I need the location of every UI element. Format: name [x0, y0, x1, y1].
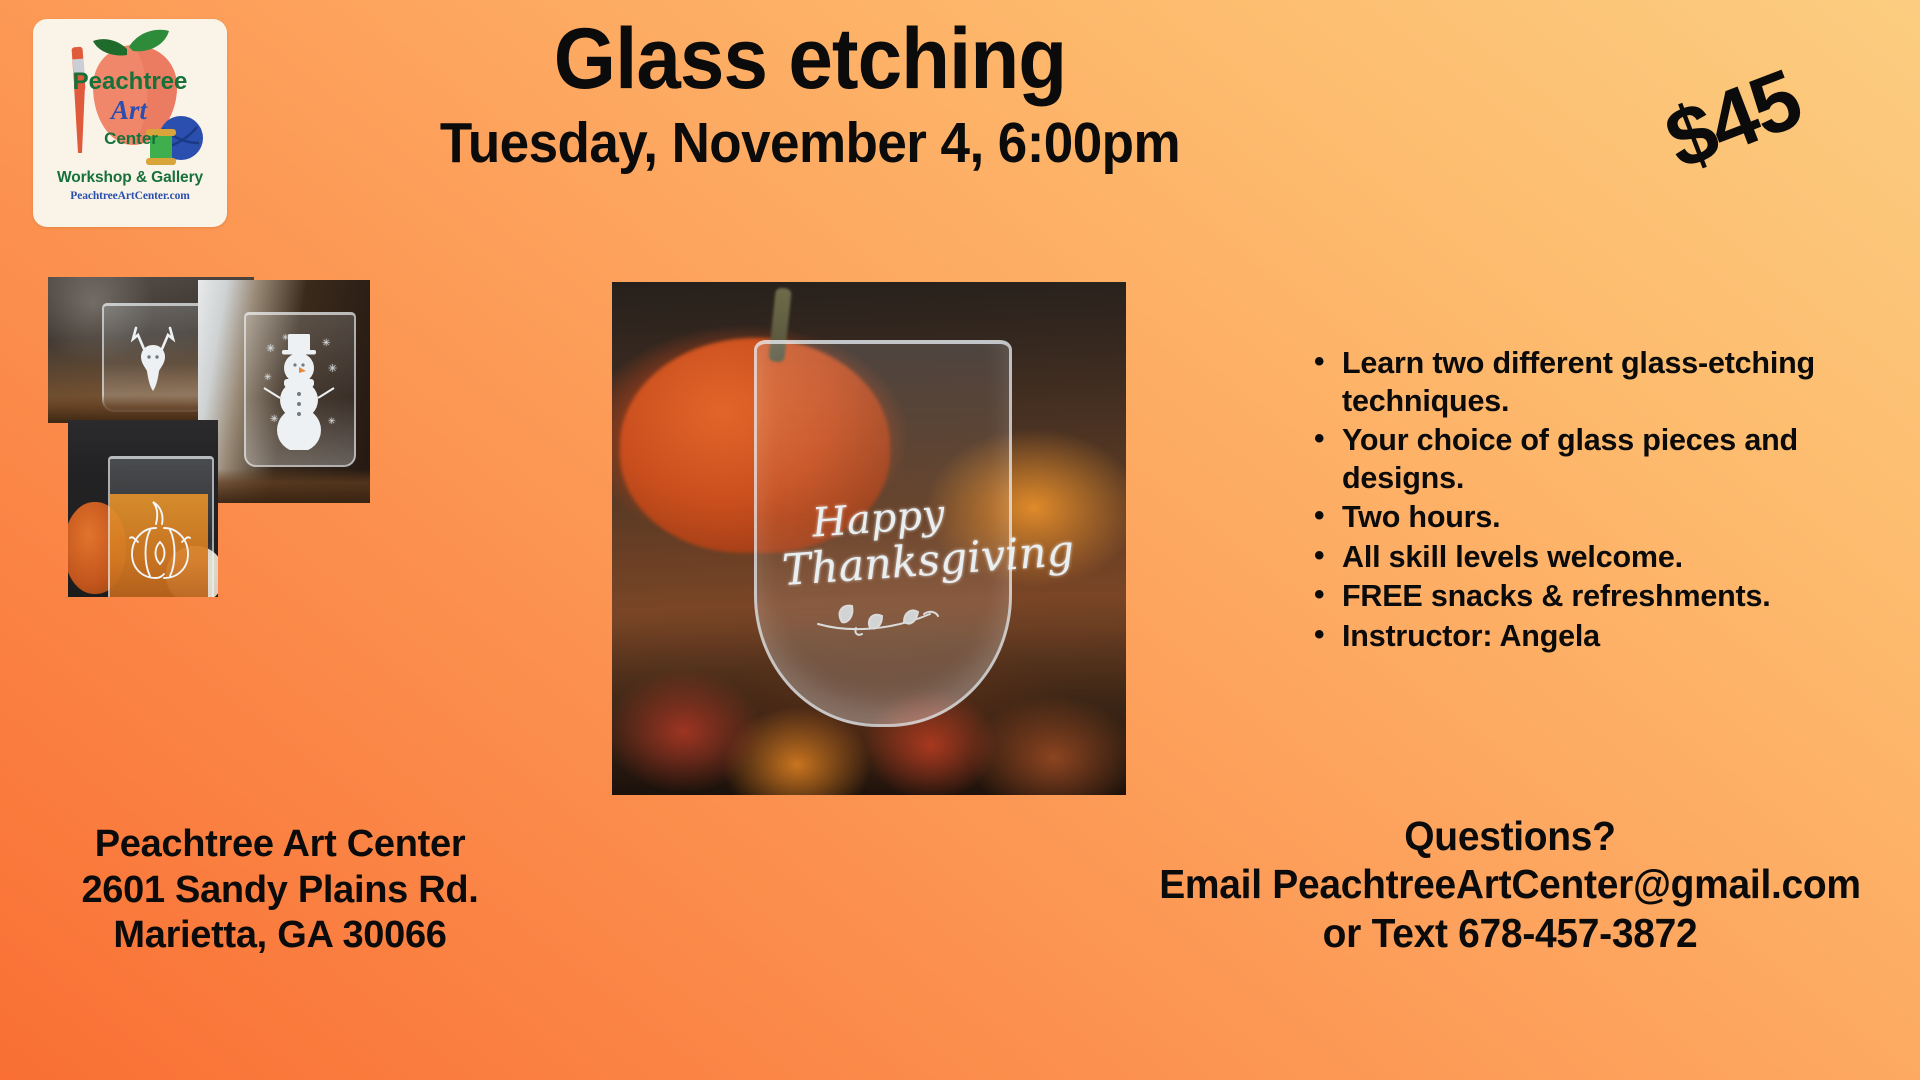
- list-item: Your choice of glass pieces and designs.: [1310, 422, 1880, 497]
- venue-city-state-zip: Marietta, GA 30066: [35, 913, 525, 959]
- class-details-list: Learn two different glass-etching techni…: [1310, 345, 1880, 657]
- snowman-etching-icon: ✳✳ ✳✳ ✳✳ ✳: [258, 326, 340, 450]
- headline-block: Glass etching Tuesday, November 4, 6:00p…: [250, 16, 1370, 172]
- logo-tagline: Workshop & Gallery: [33, 169, 227, 187]
- svg-text:✳: ✳: [266, 343, 275, 355]
- venue-address: Peachtree Art Center 2601 Sandy Plains R…: [35, 822, 525, 959]
- svg-text:✳: ✳: [328, 416, 336, 426]
- bullet-list: Learn two different glass-etching techni…: [1310, 345, 1880, 655]
- list-item: Instructor: Angela: [1310, 618, 1880, 656]
- flyer-canvas: Peachtree Art Center Workshop & Gallery …: [0, 0, 1920, 1080]
- page-title: Glass etching: [289, 16, 1331, 102]
- contact-email[interactable]: Email PeachtreeArtCenter@gmail.com: [1159, 860, 1862, 908]
- collage-photo-pumpkin-glass: [68, 420, 218, 597]
- contact-phone[interactable]: or Text 678-457-3872: [1159, 909, 1862, 957]
- logo-website: PeachtreeArtCenter.com: [33, 190, 227, 202]
- peachtree-art-center-logo: Peachtree Art Center Workshop & Gallery …: [33, 19, 227, 227]
- svg-text:Center: Center: [104, 129, 158, 148]
- svg-text:✳: ✳: [322, 338, 330, 349]
- deer-etching-icon: [124, 323, 182, 395]
- svg-text:Peachtree: Peachtree: [73, 68, 188, 95]
- contact-heading: Questions?: [1159, 812, 1862, 860]
- logo-artwork-icon: Peachtree Art Center: [33, 25, 227, 175]
- svg-text:✳: ✳: [270, 414, 278, 425]
- list-item: Two hours.: [1310, 499, 1880, 537]
- venue-street: 2601 Sandy Plains Rd.: [35, 868, 525, 914]
- leaf-vine-etching-icon: [812, 598, 952, 638]
- pumpkin-etching-icon: [120, 498, 200, 590]
- svg-text:Art: Art: [109, 95, 149, 125]
- contact-info: Questions? Email PeachtreeArtCenter@gmai…: [1140, 812, 1880, 957]
- venue-name: Peachtree Art Center: [35, 822, 525, 868]
- hero-photo-thanksgiving-glass: Happy Thanksgiving: [612, 282, 1126, 795]
- table-surface: [198, 469, 370, 503]
- price-badge: $45: [1655, 56, 1810, 182]
- collage-photo-snowman-glass: ✳✳ ✳✳ ✳✳ ✳: [198, 280, 370, 503]
- list-item: All skill levels welcome.: [1310, 539, 1880, 577]
- event-datetime: Tuesday, November 4, 6:00pm: [289, 115, 1331, 172]
- list-item: FREE snacks & refreshments.: [1310, 578, 1880, 616]
- svg-text:✳: ✳: [264, 372, 272, 382]
- list-item: Learn two different glass-etching techni…: [1310, 345, 1880, 420]
- svg-text:✳: ✳: [282, 333, 289, 342]
- svg-text:✳: ✳: [328, 363, 337, 375]
